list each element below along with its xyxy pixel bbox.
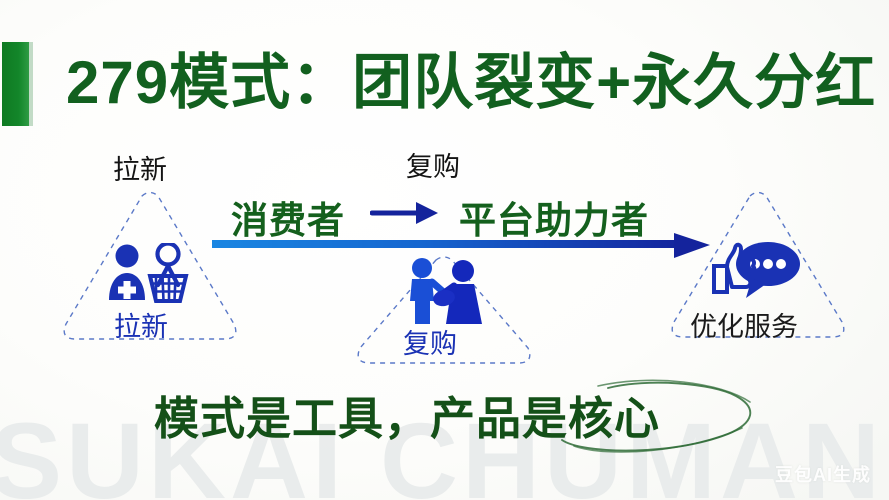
ai-generated-watermark: 豆包AI生成 (775, 461, 871, 487)
slide-canvas: SUKAI CHUMAN 279模式：团队裂变+永久分红 拉新 拉新 消费 (0, 0, 889, 500)
stage-repurchase-top-label: 复购 (406, 145, 460, 184)
stage-acquire-top-label: 拉新 (113, 148, 167, 187)
stage-repurchase-inner-label: 复购 (403, 322, 457, 361)
page-title: 279模式：团队裂变+永久分红 (66, 40, 876, 126)
title-accent-bar (2, 42, 29, 126)
stage-service-inner-label: 优化服务 (690, 305, 798, 344)
right-arrow-icon (370, 196, 442, 230)
slide-slogan: 模式是工具，产品是核心 (154, 382, 660, 447)
stage-acquire-inner-label: 拉新 (114, 305, 168, 344)
